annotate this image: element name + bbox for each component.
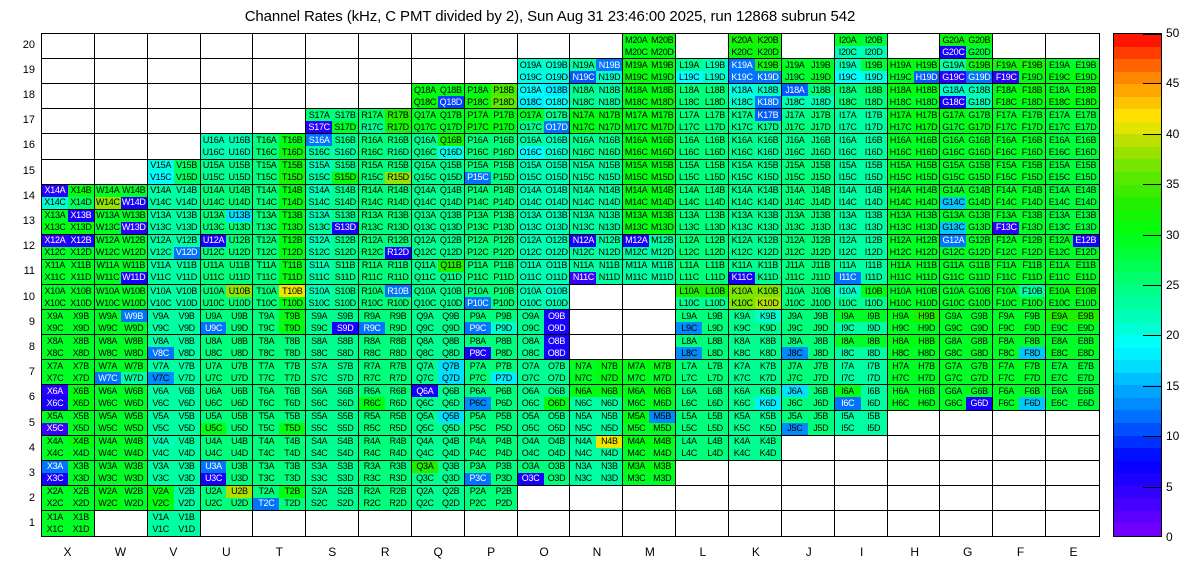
heatmap-cell-F15: F15AF15BF15CF15D <box>993 160 1046 185</box>
heatmap-subcell-V1A: V1A <box>148 511 174 524</box>
heatmap-subcell-E15B: E15B <box>1073 160 1099 172</box>
heatmap-subcell-V8B: V8B <box>174 335 200 347</box>
heatmap-subcell-E20B <box>1073 34 1099 46</box>
heatmap-subcell-K14C: K14C <box>729 197 755 209</box>
heatmap-subcell-T10B: T10B <box>279 285 305 297</box>
heatmap-subcell-R14D: R14D <box>385 197 411 209</box>
heatmap-subcell-G18A: G18A <box>940 84 966 96</box>
heatmap-subcell-G4C <box>940 448 966 460</box>
heatmap-subcell-I19C: I19C <box>835 71 861 83</box>
heatmap-cell-E4 <box>1046 436 1099 461</box>
heatmap-subcell-K20B: K20B <box>755 34 781 46</box>
heatmap-subcell-I19B: I19B <box>861 59 887 71</box>
heatmap-subcell-Q3C: Q3C <box>412 473 438 485</box>
heatmap-subcell-U6B: U6B <box>226 385 252 397</box>
heatmap-subcell-X16B <box>68 134 94 146</box>
y-tick-8: 8 <box>5 341 35 353</box>
heatmap-cell-M10 <box>623 285 676 310</box>
heatmap-subcell-V18D <box>174 96 200 108</box>
heatmap-subcell-S2D: S2D <box>332 498 358 510</box>
heatmap-subcell-V4C: V4C <box>148 448 174 460</box>
heatmap-subcell-K7C: K7C <box>729 372 755 384</box>
heatmap-cell-G2 <box>940 486 993 511</box>
heatmap-cell-G9: G9AG9BG9CG9D <box>940 310 993 335</box>
heatmap-cell-Q16: Q16AQ16BQ16CQ16D <box>412 134 465 159</box>
heatmap-subcell-L9C: L9C <box>676 322 702 334</box>
colorbar-tick-15: 15 <box>1166 379 1179 393</box>
heatmap-subcell-N4D: N4D <box>596 448 622 460</box>
heatmap-subcell-H17C: H17C <box>888 121 914 133</box>
colorbar-tick-50: 50 <box>1166 26 1179 40</box>
heatmap-subcell-U5D: U5D <box>226 423 252 435</box>
heatmap-cell-Q1 <box>412 511 465 536</box>
heatmap-subcell-F13D: F13D <box>1019 222 1045 234</box>
heatmap-subcell-I9C: I9C <box>835 322 861 334</box>
heatmap-cell-X4: X4AX4BX4CX4D <box>42 436 95 461</box>
heatmap-subcell-O11A: O11A <box>518 260 544 272</box>
heatmap-subcell-M1C <box>623 523 649 536</box>
heatmap-cell-V11: V11AV11BV11CV11D <box>148 260 201 285</box>
heatmap-cell-E15: E15AE15BE15CE15D <box>1046 160 1099 185</box>
heatmap-subcell-F2C <box>993 498 1019 510</box>
heatmap-subcell-I6C: I6C <box>835 397 861 409</box>
heatmap-subcell-T17C <box>253 121 279 133</box>
heatmap-subcell-P12A: P12A <box>465 235 491 247</box>
heatmap-cell-R3: R3AR3BR3CR3D <box>359 461 412 486</box>
heatmap-subcell-G2B <box>966 486 992 498</box>
heatmap-subcell-P10D: P10D <box>491 297 517 309</box>
heatmap-subcell-P8B: P8B <box>491 335 517 347</box>
heatmap-subcell-J18A: J18A <box>782 84 808 96</box>
heatmap-subcell-P17B: P17B <box>491 109 517 121</box>
heatmap-cell-W12: W12AW12BW12CW12D <box>95 235 148 260</box>
heatmap-subcell-P14A: P14A <box>465 185 491 197</box>
heatmap-subcell-W9B: W9B <box>121 310 147 322</box>
heatmap-cell-E16: E16AE16BE16CE16D <box>1046 134 1099 159</box>
x-tick-L: L <box>676 545 729 563</box>
heatmap-subcell-X20A <box>42 34 68 46</box>
heatmap-subcell-M18D: M18D <box>649 96 675 108</box>
heatmap-subcell-N18D: N18D <box>596 96 622 108</box>
heatmap-subcell-F12C: F12C <box>993 247 1019 259</box>
heatmap-subcell-O15C: O15C <box>518 172 544 184</box>
heatmap-subcell-P16A: P16A <box>465 134 491 146</box>
heatmap-subcell-L4A: L4A <box>676 436 702 448</box>
heatmap-subcell-U5C: U5C <box>201 423 227 435</box>
heatmap-subcell-I6B: I6B <box>861 385 887 397</box>
heatmap-subcell-U6A: U6A <box>201 385 227 397</box>
heatmap-subcell-G15D: G15D <box>966 172 992 184</box>
heatmap-subcell-K16A: K16A <box>729 134 755 146</box>
heatmap-subcell-E16A: E16A <box>1046 134 1072 146</box>
heatmap-cell-P7: P7AP7BP7CP7D <box>465 360 518 385</box>
heatmap-cell-L12: L12AL12BL12CL12D <box>676 235 729 260</box>
heatmap-cell-F11: F11AF11BF11CF11D <box>993 260 1046 285</box>
heatmap-subcell-Q15C: Q15C <box>412 172 438 184</box>
heatmap-subcell-Q19D <box>438 71 464 83</box>
heatmap-subcell-W16C <box>95 146 121 158</box>
heatmap-subcell-O12D: O12D <box>544 247 570 259</box>
heatmap-subcell-W4D: W4D <box>121 448 147 460</box>
heatmap-subcell-O10A: O10A <box>518 285 544 297</box>
heatmap-subcell-J19C: J19C <box>782 71 808 83</box>
heatmap-grid: M20AM20BM20CM20DK20AK20BK20CK20DI20AI20B… <box>42 34 1099 536</box>
heatmap-cell-L2 <box>676 486 729 511</box>
heatmap-subcell-V5C: V5C <box>148 423 174 435</box>
heatmap-subcell-H20D <box>914 46 940 58</box>
heatmap-subcell-Q11D: Q11D <box>438 272 464 284</box>
heatmap-subcell-X11D: X11D <box>68 272 94 284</box>
heatmap-subcell-V4B: V4B <box>174 436 200 448</box>
heatmap-cell-K11: K11AK11BK11CK11D <box>729 260 782 285</box>
heatmap-subcell-S11C: S11C <box>306 272 332 284</box>
heatmap-cell-W13: W13AW13BW13CW13D <box>95 210 148 235</box>
heatmap-subcell-N8D <box>596 347 622 359</box>
heatmap-subcell-L18B: L18B <box>702 84 728 96</box>
heatmap-cell-Q12: Q12AQ12BQ12CQ12D <box>412 235 465 260</box>
heatmap-cell-U18 <box>201 84 254 109</box>
heatmap-subcell-I4A <box>835 436 861 448</box>
heatmap-subcell-H10B: H10B <box>914 285 940 297</box>
heatmap-subcell-K20D: K20D <box>755 46 781 58</box>
heatmap-cell-F18: F18AF18BF18CF18D <box>993 84 1046 109</box>
heatmap-subcell-X14B: X14B <box>68 185 94 197</box>
heatmap-subcell-F4C <box>993 448 1019 460</box>
heatmap-subcell-F16C: F16C <box>993 146 1019 158</box>
heatmap-subcell-I17C: I17C <box>835 121 861 133</box>
heatmap-subcell-R15C: R15C <box>359 172 385 184</box>
heatmap-subcell-T13D: T13D <box>279 222 305 234</box>
heatmap-subcell-V3B: V3B <box>174 461 200 473</box>
heatmap-cell-R16: R16AR16BR16CR16D <box>359 134 412 159</box>
heatmap-cell-N5: N5AN5BN5CN5D <box>570 411 623 436</box>
heatmap-subcell-K10C: K10C <box>729 297 755 309</box>
heatmap-subcell-N8C <box>570 347 596 359</box>
heatmap-subcell-V18C <box>148 96 174 108</box>
heatmap-subcell-E11D: E11D <box>1073 272 1099 284</box>
heatmap-cell-N16: N16AN16BN16CN16D <box>570 134 623 159</box>
heatmap-subcell-O12A: O12A <box>518 235 544 247</box>
heatmap-cell-H14: H14AH14BH14CH14D <box>888 185 941 210</box>
heatmap-subcell-U20C <box>201 46 227 58</box>
heatmap-cell-I6: I6AI6BI6CI6D <box>835 385 888 410</box>
heatmap-cell-O4: O4AO4BO4CO4D <box>518 436 571 461</box>
heatmap-subcell-V13A: V13A <box>148 210 174 222</box>
heatmap-subcell-I1D <box>861 523 887 536</box>
heatmap-subcell-V20A <box>148 34 174 46</box>
heatmap-subcell-Q2D: Q2D <box>438 498 464 510</box>
heatmap-subcell-M19C: M19C <box>623 71 649 83</box>
heatmap-subcell-V14C: V14C <box>148 197 174 209</box>
heatmap-subcell-I6D: I6D <box>861 397 887 409</box>
heatmap-cell-V18 <box>148 84 201 109</box>
heatmap-cell-O18: O18AO18BO18CO18D <box>518 84 571 109</box>
heatmap-subcell-T14D: T14D <box>279 197 305 209</box>
heatmap-subcell-P15C: P15C <box>465 172 491 184</box>
heatmap-subcell-Q8D: Q8D <box>438 347 464 359</box>
heatmap-subcell-U9A: U9A <box>201 310 227 322</box>
heatmap-subcell-H11A: H11A <box>888 260 914 272</box>
heatmap-subcell-H7A: H7A <box>888 360 914 372</box>
heatmap-subcell-J1A <box>782 511 808 524</box>
heatmap-subcell-O8A: O8A <box>518 335 544 347</box>
heatmap-cell-Q5: Q5AQ5BQ5CQ5D <box>412 411 465 436</box>
heatmap-cell-R10: R10AR10BR10CR10D <box>359 285 412 310</box>
heatmap-subcell-O19B: O19B <box>544 59 570 71</box>
heatmap-subcell-N7C: N7C <box>570 372 596 384</box>
heatmap-subcell-M11C: M11C <box>623 272 649 284</box>
heatmap-subcell-U5B: U5B <box>226 411 252 423</box>
heatmap-cell-T10: T10AT10BT10CT10D <box>253 285 306 310</box>
heatmap-subcell-M4B: M4B <box>649 436 675 448</box>
heatmap-subcell-U16D: U16D <box>226 146 252 158</box>
heatmap-cell-H19: H19AH19BH19CH19D <box>888 59 941 84</box>
heatmap-subcell-W1D <box>121 523 147 536</box>
heatmap-subcell-X5B: X5B <box>68 411 94 423</box>
heatmap-subcell-U11D: U11D <box>226 272 252 284</box>
heatmap-cell-E10: E10AE10BE10CE10D <box>1046 285 1099 310</box>
heatmap-subcell-W14D: W14D <box>121 197 147 209</box>
heatmap-cell-F8: F8AF8BF8CF8D <box>993 335 1046 360</box>
heatmap-subcell-S11D: S11D <box>332 272 358 284</box>
heatmap-subcell-L14B: L14B <box>702 185 728 197</box>
heatmap-subcell-N12A: N12A <box>570 235 596 247</box>
heatmap-subcell-M14B: M14B <box>649 185 675 197</box>
heatmap-subcell-S20D <box>332 46 358 58</box>
heatmap-subcell-N11D: N11D <box>596 272 622 284</box>
heatmap-subcell-H6C: H6C <box>888 397 914 409</box>
heatmap-subcell-G4D <box>966 448 992 460</box>
heatmap-subcell-S20A <box>306 34 332 46</box>
heatmap-cell-N18: N18AN18BN18CN18D <box>570 84 623 109</box>
heatmap-cell-G5 <box>940 411 993 436</box>
heatmap-subcell-H14B: H14B <box>914 185 940 197</box>
heatmap-subcell-G6D: G6D <box>966 397 992 409</box>
heatmap-cell-G19: G19AG19BG19CG19D <box>940 59 993 84</box>
heatmap-cell-M18: M18AM18BM18CM18D <box>623 84 676 109</box>
heatmap-subcell-X19C <box>42 71 68 83</box>
heatmap-subcell-W12D: W12D <box>121 247 147 259</box>
heatmap-subcell-O16B: O16B <box>544 134 570 146</box>
heatmap-subcell-E17A: E17A <box>1046 109 1072 121</box>
heatmap-subcell-P11D: P11D <box>491 272 517 284</box>
heatmap-subcell-F9C: F9C <box>993 322 1019 334</box>
heatmap-subcell-G2D <box>966 498 992 510</box>
heatmap-subcell-V2D: V2D <box>174 498 200 510</box>
heatmap-subcell-E12A: E12A <box>1046 235 1072 247</box>
heatmap-subcell-S5D: S5D <box>332 423 358 435</box>
heatmap-subcell-N4B: N4B <box>596 436 622 448</box>
heatmap-subcell-K18A: K18A <box>729 84 755 96</box>
heatmap-subcell-L10B: L10B <box>702 285 728 297</box>
heatmap-subcell-X8B: X8B <box>68 335 94 347</box>
heatmap-subcell-W17C <box>95 121 121 133</box>
heatmap-subcell-L18C: L18C <box>676 96 702 108</box>
heatmap-subcell-F15D: F15D <box>1019 172 1045 184</box>
heatmap-cell-P10: P10AP10BP10CP10D <box>465 285 518 310</box>
heatmap-cell-I14: I14AI14BI14CI14D <box>835 185 888 210</box>
heatmap-cell-U4: U4AU4BU4CU4D <box>201 436 254 461</box>
heatmap-subcell-L13A: L13A <box>676 210 702 222</box>
heatmap-cell-S5: S5AS5BS5CS5D <box>306 411 359 436</box>
heatmap-subcell-J7D: J7D <box>808 372 834 384</box>
heatmap-subcell-G10D: G10D <box>966 297 992 309</box>
heatmap-plot: M20AM20BM20CM20DK20AK20BK20CK20DI20AI20B… <box>41 33 1100 537</box>
heatmap-subcell-S5B: S5B <box>332 411 358 423</box>
heatmap-subcell-N9A <box>570 310 596 322</box>
heatmap-subcell-M9B <box>649 310 675 322</box>
heatmap-subcell-E19D: E19D <box>1073 71 1099 83</box>
heatmap-subcell-F19D: F19D <box>1019 71 1045 83</box>
heatmap-subcell-O2D <box>544 498 570 510</box>
heatmap-subcell-R7C: R7C <box>359 372 385 384</box>
heatmap-subcell-G2C <box>940 498 966 510</box>
heatmap-subcell-W4B: W4B <box>121 436 147 448</box>
heatmap-subcell-E4C <box>1046 448 1072 460</box>
heatmap-cell-F19: F19AF19BF19CF19D <box>993 59 1046 84</box>
heatmap-subcell-M11B: M11B <box>649 260 675 272</box>
heatmap-subcell-X11A: X11A <box>42 260 68 272</box>
heatmap-subcell-M19A: M19A <box>623 59 649 71</box>
heatmap-cell-V9: V9AV9BV9CV9D <box>148 310 201 335</box>
heatmap-cell-M11: M11AM11BM11CM11D <box>623 260 676 285</box>
heatmap-subcell-J18D: J18D <box>808 96 834 108</box>
heatmap-cell-T1 <box>253 511 306 536</box>
heatmap-cell-W9: W9AW9BW9CW9D <box>95 310 148 335</box>
heatmap-subcell-X13D: X13D <box>68 222 94 234</box>
heatmap-subcell-Q7A: Q7A <box>412 360 438 372</box>
heatmap-subcell-L6C: L6C <box>676 397 702 409</box>
heatmap-subcell-H18A: H18A <box>888 84 914 96</box>
heatmap-cell-K4: K4AK4BK4CK4D <box>729 436 782 461</box>
heatmap-cell-S7: S7AS7BS7CS7D <box>306 360 359 385</box>
heatmap-subcell-K2B <box>755 486 781 498</box>
heatmap-subcell-E8B: E8B <box>1073 335 1099 347</box>
heatmap-cell-P12: P12AP12BP12CP12D <box>465 235 518 260</box>
heatmap-cell-U16: U16AU16BU16CU16D <box>201 134 254 159</box>
x-tick-K: K <box>729 545 782 563</box>
heatmap-subcell-O17B: O17B <box>544 109 570 121</box>
heatmap-subcell-W2B: W2B <box>121 486 147 498</box>
heatmap-subcell-Q9C: Q9C <box>412 322 438 334</box>
heatmap-subcell-O5C: O5C <box>518 423 544 435</box>
heatmap-subcell-V20C <box>148 46 174 58</box>
heatmap-subcell-W9C: W9C <box>95 322 121 334</box>
heatmap-subcell-I2B <box>861 486 887 498</box>
heatmap-subcell-K12A: K12A <box>729 235 755 247</box>
heatmap-subcell-R20D <box>385 46 411 58</box>
heatmap-subcell-P5C: P5C <box>465 423 491 435</box>
heatmap-subcell-V19B <box>174 59 200 71</box>
heatmap-cell-T7: T7AT7BT7CT7D <box>253 360 306 385</box>
heatmap-subcell-S16B: S16B <box>332 134 358 146</box>
heatmap-subcell-Q7B: Q7B <box>438 360 464 372</box>
heatmap-subcell-M20D: M20D <box>649 46 675 58</box>
heatmap-subcell-J5A: J5A <box>782 411 808 423</box>
heatmap-subcell-P18A: P18A <box>465 84 491 96</box>
heatmap-subcell-O19D: O19D <box>544 71 570 83</box>
heatmap-subcell-E2D <box>1073 498 1099 510</box>
heatmap-subcell-R9B: R9B <box>385 310 411 322</box>
heatmap-subcell-K9A: K9A <box>729 310 755 322</box>
heatmap-subcell-W6B: W6B <box>121 385 147 397</box>
heatmap-subcell-E19C: E19C <box>1046 71 1072 83</box>
heatmap-subcell-T1B <box>279 511 305 524</box>
heatmap-cell-Q6: Q6AQ6BQ6CQ6D <box>412 385 465 410</box>
heatmap-subcell-O11D: O11D <box>544 272 570 284</box>
heatmap-subcell-N13B: N13B <box>596 210 622 222</box>
heatmap-subcell-K8C: K8C <box>729 347 755 359</box>
heatmap-cell-P5: P5AP5BP5CP5D <box>465 411 518 436</box>
heatmap-subcell-Q3A: Q3A <box>412 461 438 473</box>
heatmap-subcell-F10D: F10D <box>1019 297 1045 309</box>
heatmap-subcell-X7B: X7B <box>68 360 94 372</box>
heatmap-subcell-F17C: F17C <box>993 121 1019 133</box>
heatmap-subcell-J3D <box>808 473 834 485</box>
heatmap-subcell-L9B: L9B <box>702 310 728 322</box>
heatmap-subcell-O18B: O18B <box>544 84 570 96</box>
heatmap-subcell-N7B: N7B <box>596 360 622 372</box>
heatmap-subcell-G8D: G8D <box>966 347 992 359</box>
heatmap-subcell-K4C: K4C <box>729 448 755 460</box>
heatmap-cell-G11: G11AG11BG11CG11D <box>940 260 993 285</box>
heatmap-subcell-W5A: W5A <box>95 411 121 423</box>
heatmap-subcell-S10B: S10B <box>332 285 358 297</box>
heatmap-subcell-O10B: O10B <box>544 285 570 297</box>
heatmap-cell-W3: W3AW3BW3CW3D <box>95 461 148 486</box>
heatmap-subcell-X15A <box>42 160 68 172</box>
heatmap-subcell-V2C: V2C <box>148 498 174 510</box>
heatmap-subcell-L9D: L9D <box>702 322 728 334</box>
heatmap-subcell-I15B: I15B <box>861 160 887 172</box>
heatmap-cell-E20 <box>1046 34 1099 59</box>
heatmap-subcell-K1B <box>755 511 781 524</box>
heatmap-cell-G7: G7AG7BG7CG7D <box>940 360 993 385</box>
heatmap-subcell-M6D: M6D <box>649 397 675 409</box>
heatmap-cell-P18: P18AP18BP18CP18D <box>465 84 518 109</box>
heatmap-subcell-T16A: T16A <box>253 134 279 146</box>
heatmap-subcell-M12C: M12C <box>623 247 649 259</box>
heatmap-subcell-I7A: I7A <box>835 360 861 372</box>
heatmap-cell-F12: F12AF12BF12CF12D <box>993 235 1046 260</box>
heatmap-subcell-U3D: U3D <box>226 473 252 485</box>
heatmap-cell-J3 <box>782 461 835 486</box>
heatmap-subcell-F14D: F14D <box>1019 197 1045 209</box>
heatmap-subcell-Q13C: Q13C <box>412 222 438 234</box>
heatmap-subcell-N11C: N11C <box>570 272 596 284</box>
heatmap-cell-H4 <box>888 436 941 461</box>
heatmap-subcell-K7B: K7B <box>755 360 781 372</box>
heatmap-subcell-M11D: M11D <box>649 272 675 284</box>
heatmap-subcell-N17C: N17C <box>570 121 596 133</box>
heatmap-subcell-I16A: I16A <box>835 134 861 146</box>
heatmap-subcell-S7B: S7B <box>332 360 358 372</box>
heatmap-subcell-H8D: H8D <box>914 347 940 359</box>
heatmap-subcell-W20C <box>95 46 121 58</box>
heatmap-subcell-I17D: I17D <box>861 121 887 133</box>
heatmap-cell-O19: O19AO19BO19CO19D <box>518 59 571 84</box>
heatmap-subcell-M2C <box>623 498 649 510</box>
heatmap-subcell-U10B: U10B <box>226 285 252 297</box>
heatmap-subcell-W13C: W13C <box>95 222 121 234</box>
heatmap-cell-N8 <box>570 335 623 360</box>
heatmap-subcell-Q1C <box>412 523 438 536</box>
heatmap-subcell-R18B <box>385 84 411 96</box>
heatmap-subcell-N12B: N12B <box>596 235 622 247</box>
heatmap-subcell-F2D <box>1019 498 1045 510</box>
heatmap-subcell-K15D: K15D <box>755 172 781 184</box>
heatmap-subcell-R12D: R12D <box>385 247 411 259</box>
